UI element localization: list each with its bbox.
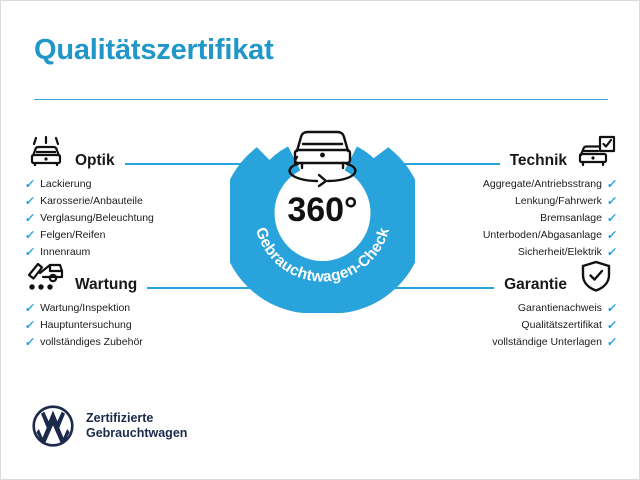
title-divider (34, 99, 608, 100)
list-item: ✓ Karosserie/Anbauteile (25, 194, 143, 208)
check-icon: ✓ (606, 195, 618, 207)
check-icon: ✓ (606, 178, 618, 190)
list-item: ✓ Verglasung/Beleuchtung (25, 211, 154, 225)
car-shine-icon (25, 135, 67, 169)
list-item: Garantienachweis ✓ (518, 301, 617, 315)
list-item: Qualitätszertifikat ✓ (521, 318, 617, 332)
list-item-label: Karosserie/Anbauteile (40, 194, 143, 208)
vw-logo-icon (32, 405, 74, 447)
list-item: vollständige Unterlagen ✓ (492, 335, 617, 349)
list-item: ✓ Innenraum (25, 245, 90, 259)
list-item: ✓ Lackierung (25, 177, 91, 191)
list-item-label: Unterboden/Abgasanlage (483, 228, 602, 242)
list-item-label: Garantienachweis (518, 301, 602, 315)
list-item-label: Qualitätszertifikat (521, 318, 602, 332)
list-item-label: Wartung/Inspektion (40, 301, 130, 315)
list-item: Aggregate/Antriebsstrang ✓ (483, 177, 617, 191)
page-title: Qualitätszertifikat (34, 34, 274, 67)
check-icon: ✓ (606, 229, 618, 241)
list-item: Lenkung/Fahrwerk ✓ (515, 194, 617, 208)
check-icon: ✓ (24, 212, 36, 224)
badge-center-label: 360° (287, 191, 357, 229)
list-item: ✓ Wartung/Inspektion (25, 301, 130, 315)
check-icon: ✓ (24, 319, 36, 331)
360-check-badge: Gebrauchtwagen-Check 360° (230, 113, 415, 313)
list-item-label: Innenraum (40, 245, 90, 259)
list-item: ✓ Felgen/Reifen (25, 228, 105, 242)
car-checkbox-icon (575, 135, 617, 169)
list-item: Bremsanlage ✓ (540, 211, 617, 225)
list-item: ✓ vollständiges Zubehör (25, 335, 143, 349)
check-icon: ✓ (24, 195, 36, 207)
vw-certified-footer: Zertifizierte Gebrauchtwagen (32, 405, 187, 447)
check-icon: ✓ (24, 336, 36, 348)
section-garantie-title: Garantie (504, 276, 567, 293)
list-item-label: Felgen/Reifen (40, 228, 105, 242)
shield-check-icon (575, 259, 617, 293)
section-technik-title: Technik (510, 152, 567, 169)
list-item-label: vollständige Unterlagen (492, 335, 602, 349)
vw-certified-label: Zertifizierte Gebrauchtwagen (86, 411, 187, 441)
list-item: ✓ Hauptuntersuchung (25, 318, 132, 332)
check-icon: ✓ (24, 302, 36, 314)
check-icon: ✓ (606, 336, 618, 348)
check-icon: ✓ (24, 246, 36, 258)
certificate-page: Qualitätszertifikat (0, 0, 640, 480)
list-item-label: Sicherheit/Elektrik (518, 245, 602, 259)
list-item-label: Aggregate/Antriebsstrang (483, 177, 602, 191)
check-icon: ✓ (24, 178, 36, 190)
list-item: Unterboden/Abgasanlage ✓ (483, 228, 617, 242)
car-service-tool-icon (25, 259, 67, 293)
section-wartung-title: Wartung (75, 276, 137, 293)
list-item-label: Bremsanlage (540, 211, 602, 225)
list-item-label: Hauptuntersuchung (40, 318, 132, 332)
list-item-label: Lackierung (40, 177, 91, 191)
check-icon: ✓ (606, 212, 618, 224)
list-item-label: Lenkung/Fahrwerk (515, 194, 602, 208)
section-optik-title: Optik (75, 152, 115, 169)
check-icon: ✓ (24, 229, 36, 241)
check-icon: ✓ (606, 319, 618, 331)
check-icon: ✓ (606, 302, 618, 314)
list-item: Sicherheit/Elektrik ✓ (518, 245, 617, 259)
check-icon: ✓ (606, 246, 618, 258)
list-item-label: Verglasung/Beleuchtung (40, 211, 154, 225)
list-item-label: vollständiges Zubehör (40, 335, 143, 349)
